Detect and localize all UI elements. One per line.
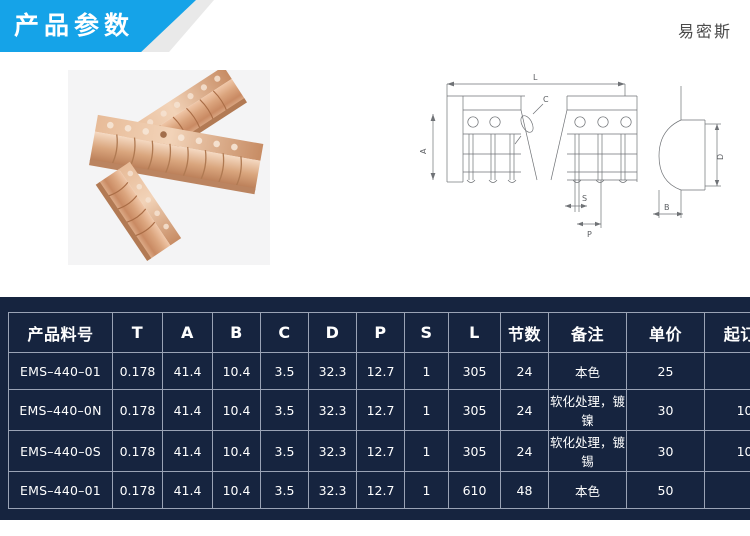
column-header-l: L [449,313,501,353]
cell-segments: 48 [501,472,549,509]
cell-moq: 100 [705,390,750,431]
cell-s: 1 [405,353,449,390]
cell-remark: 本色 [549,472,627,509]
cell-a: 41.4 [163,472,213,509]
spec-table-container: 产品料号 T A B C D P S L 节数 备注 单价 起订量 EMS–44… [0,297,750,520]
cell-part-number: EMS–440–01 [9,472,113,509]
column-header-a: A [163,313,213,353]
cell-t: 0.178 [113,431,163,472]
cell-moq: 100 [705,431,750,472]
cell-a: 41.4 [163,431,213,472]
drawing-label-profile-height: D [716,154,725,160]
cell-p: 12.7 [357,472,405,509]
column-header-remark: 备注 [549,313,627,353]
column-header-s: S [405,313,449,353]
cell-b: 10.4 [213,431,261,472]
cell-segments: 24 [501,431,549,472]
media-area: L A C S P D B [0,58,750,296]
column-header-unit-price: 单价 [627,313,705,353]
table-row: EMS–440–01 0.178 41.4 10.4 3.5 32.3 12.7… [9,353,750,390]
column-header-c: C [261,313,309,353]
cell-c: 3.5 [261,353,309,390]
column-header-segments: 节数 [501,313,549,353]
drawing-label-strip-width: S [582,194,587,203]
cell-segments: 24 [501,353,549,390]
column-header-b: B [213,313,261,353]
cell-l: 305 [449,431,501,472]
cell-c: 3.5 [261,431,309,472]
cell-b: 10.4 [213,353,261,390]
cell-p: 12.7 [357,353,405,390]
drawing-label-profile-width: B [664,203,670,212]
drawing-label-height: A [419,148,428,154]
engineering-drawing-illustration: L A C S P D B [415,62,745,277]
section-title-text: 产品参数 [14,0,134,52]
cell-s: 1 [405,431,449,472]
cell-b: 10.4 [213,390,261,431]
cell-a: 41.4 [163,353,213,390]
cell-moq [705,353,750,390]
cell-c: 3.5 [261,472,309,509]
cell-d: 32.3 [309,472,357,509]
drawing-label-angle: C [543,95,549,104]
cell-c: 3.5 [261,390,309,431]
cell-b: 10.4 [213,472,261,509]
cell-s: 1 [405,472,449,509]
spec-table: 产品料号 T A B C D P S L 节数 备注 单价 起订量 EMS–44… [8,312,750,509]
drawing-label-pitch: P [587,230,592,239]
cell-remark: 软化处理，镀镍 [549,390,627,431]
cell-t: 0.178 [113,472,163,509]
table-row: EMS–440–01 0.178 41.4 10.4 3.5 32.3 12.7… [9,472,750,509]
cell-p: 12.7 [357,390,405,431]
cell-l: 610 [449,472,501,509]
column-header-p: P [357,313,405,353]
cell-l: 305 [449,353,501,390]
product-photo-illustration [68,70,270,265]
spec-table-header-row: 产品料号 T A B C D P S L 节数 备注 单价 起订量 [9,313,750,353]
cell-l: 305 [449,390,501,431]
drawing-label-length: L [533,73,538,82]
cell-s: 1 [405,390,449,431]
cell-remark: 本色 [549,353,627,390]
table-row: EMS–440–0S 0.178 41.4 10.4 3.5 32.3 12.7… [9,431,750,472]
cell-d: 32.3 [309,353,357,390]
table-row: EMS–440–0N 0.178 41.4 10.4 3.5 32.3 12.7… [9,390,750,431]
column-header-d: D [309,313,357,353]
cell-part-number: EMS–440–0S [9,431,113,472]
cell-remark: 软化处理，镀锡 [549,431,627,472]
cell-segments: 24 [501,390,549,431]
cell-d: 32.3 [309,390,357,431]
cell-t: 0.178 [113,353,163,390]
cell-d: 32.3 [309,431,357,472]
cell-p: 12.7 [357,431,405,472]
cell-a: 41.4 [163,390,213,431]
cell-unit-price: 30 [627,390,705,431]
cell-part-number: EMS–440–0N [9,390,113,431]
cell-moq [705,472,750,509]
column-header-moq: 起订量 [705,313,750,353]
column-header-part-number: 产品料号 [9,313,113,353]
cell-unit-price: 50 [627,472,705,509]
engineering-drawing: L A C S P D B [415,62,745,277]
cell-part-number: EMS–440–01 [9,353,113,390]
cell-unit-price: 30 [627,431,705,472]
brand-name: 易密斯 [678,18,732,42]
column-header-t: T [113,313,163,353]
page-header: 产品参数 易密斯 [0,0,750,58]
cell-unit-price: 25 [627,353,705,390]
product-photo [68,70,270,265]
cell-t: 0.178 [113,390,163,431]
